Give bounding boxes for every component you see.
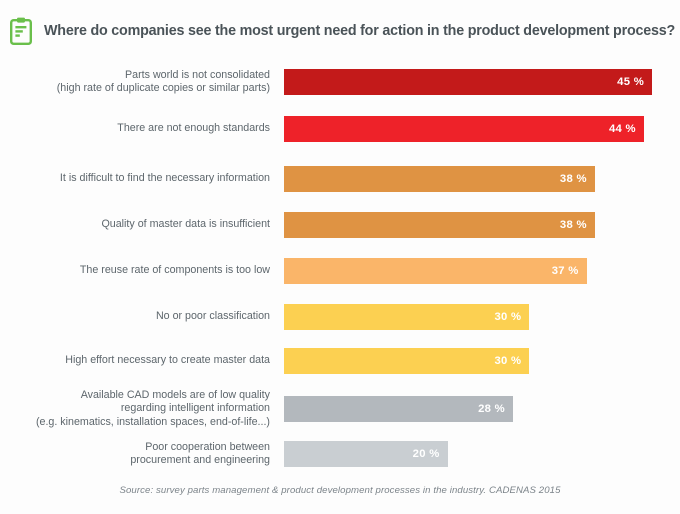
bar[interactable]: 38 % [284,166,595,192]
bar-track: 38 % [284,208,680,242]
bar-category-label: It is difficult to find the necessary in… [0,172,284,186]
bar-category-label: Parts world is not consolidated (high ra… [0,69,284,96]
bar-value-label: 30 % [494,355,521,367]
bar-track: 37 % [284,254,680,288]
bar-value-label: 30 % [494,311,521,323]
bar-value-label: 38 % [560,173,587,185]
bar[interactable]: 20 % [284,441,448,467]
chart-row: There are not enough standards44 % [0,112,680,146]
bar-category-label: The reuse rate of components is too low [0,264,284,278]
bar-value-label: 45 % [617,76,644,88]
chart-row: Available CAD models are of low quality … [0,386,680,432]
bar-category-label: Available CAD models are of low quality … [0,389,284,430]
chart-row: Quality of master data is insufficient38… [0,208,680,242]
bar-category-label: Poor cooperation between procurement and… [0,441,284,468]
bar[interactable]: 30 % [284,304,529,330]
bar[interactable]: 38 % [284,212,595,238]
chart-row: It is difficult to find the necessary in… [0,162,680,196]
bar-value-label: 38 % [560,219,587,231]
bar[interactable]: 44 % [284,116,644,142]
bar-category-label: There are not enough standards [0,122,284,136]
bar[interactable]: 30 % [284,348,529,374]
page-title: Where do companies see the most urgent n… [44,23,675,39]
bar-category-label: High effort necessary to create master d… [0,354,284,368]
clipboard-form-icon [10,17,32,45]
chart-row: Poor cooperation between procurement and… [0,434,680,474]
bar-track: 20 % [284,434,680,474]
source-note: Source: survey parts management & produc… [0,485,680,496]
bar-category-label: No or poor classification [0,310,284,324]
chart-row: No or poor classification30 % [0,300,680,334]
bar-value-label: 20 % [413,448,440,460]
chart-header: Where do companies see the most urgent n… [0,14,680,48]
bar-chart: Parts world is not consolidated (high ra… [0,56,680,466]
bar-track: 30 % [284,344,680,378]
chart-row: High effort necessary to create master d… [0,344,680,378]
chart-page: Where do companies see the most urgent n… [0,0,680,514]
bar[interactable]: 45 % [284,69,652,95]
bar-track: 30 % [284,300,680,334]
bar-track: 38 % [284,162,680,196]
bar-category-label: Quality of master data is insufficient [0,218,284,232]
bar-value-label: 44 % [609,123,636,135]
bar[interactable]: 37 % [284,258,587,284]
bar-track: 45 % [284,62,680,102]
bar[interactable]: 28 % [284,396,513,422]
chart-row: Parts world is not consolidated (high ra… [0,62,680,102]
bar-value-label: 28 % [478,403,505,415]
bar-track: 44 % [284,112,680,146]
chart-row: The reuse rate of components is too low3… [0,254,680,288]
bar-value-label: 37 % [552,265,579,277]
bar-track: 28 % [284,386,680,432]
